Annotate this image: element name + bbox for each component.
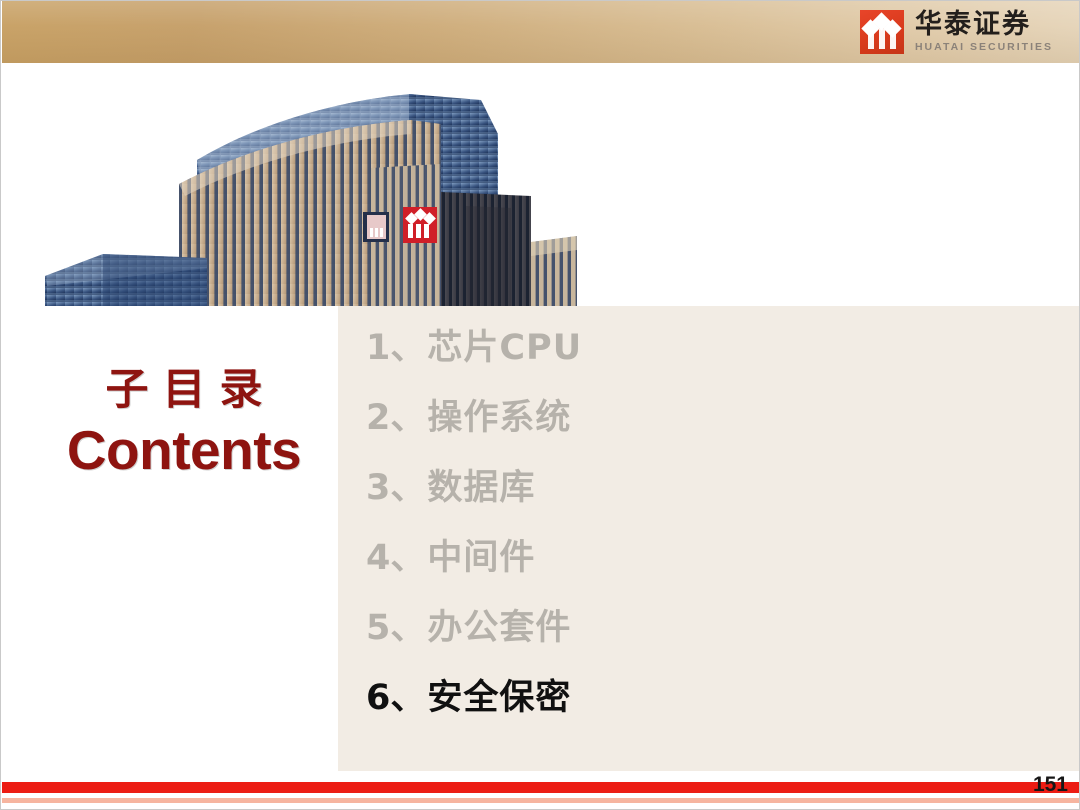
toc-item-label: 操作系统: [427, 389, 571, 440]
toc-item-number: 5、: [366, 599, 425, 650]
brand-text: 华泰证券 HUATAI SECURITIES: [915, 11, 1053, 53]
footer-rule-pink: [2, 798, 1080, 803]
page-title-en: Contents: [29, 420, 339, 482]
toc-item-label: 芯片CPU: [427, 319, 582, 370]
headquarters-building-image: [11, 64, 608, 306]
toc-item-6[interactable]: 6、 安全保密: [366, 669, 1006, 739]
brand-logo: 华泰证券 HUATAI SECURITIES: [860, 10, 1053, 54]
toc-item-5[interactable]: 5、 办公套件: [366, 599, 1006, 669]
toc-item-4[interactable]: 4、 中间件: [366, 529, 1006, 599]
logo-bar: [879, 29, 885, 49]
building-logo-sign-left: [363, 212, 389, 242]
building-logo-sign-right: [403, 207, 437, 243]
table-of-contents: 1、 芯片CPU 2、 操作系统 3、 数据库 4、 中间件 5、 办公套件 6…: [366, 319, 1006, 739]
toc-item-label: 安全保密: [427, 669, 571, 720]
building-illustration: [11, 64, 608, 306]
toc-item-label: 办公套件: [427, 599, 571, 650]
toc-item-label: 中间件: [427, 529, 535, 580]
toc-item-number: 1、: [366, 319, 425, 370]
toc-item-1[interactable]: 1、 芯片CPU: [366, 319, 1006, 389]
brand-name-cn: 华泰证券: [915, 11, 1053, 39]
toc-item-number: 6、: [366, 669, 425, 720]
footer-rule-red: [2, 782, 1080, 793]
page-number: 151: [1033, 773, 1068, 797]
toc-item-2[interactable]: 2、 操作系统: [366, 389, 1006, 459]
toc-item-3[interactable]: 3、 数据库: [366, 459, 1006, 529]
toc-item-number: 3、: [366, 459, 425, 510]
page-title: 子目录 Contents: [29, 364, 339, 481]
toc-item-number: 4、: [366, 529, 425, 580]
huatai-diamond-logo-icon: [860, 10, 904, 54]
toc-item-number: 2、: [366, 389, 425, 440]
presentation-slide: 华泰证券 HUATAI SECURITIES: [0, 0, 1080, 810]
page-title-cn: 子目录: [29, 364, 339, 418]
brand-name-en: HUATAI SECURITIES: [915, 41, 1053, 53]
toc-item-label: 数据库: [427, 459, 535, 510]
